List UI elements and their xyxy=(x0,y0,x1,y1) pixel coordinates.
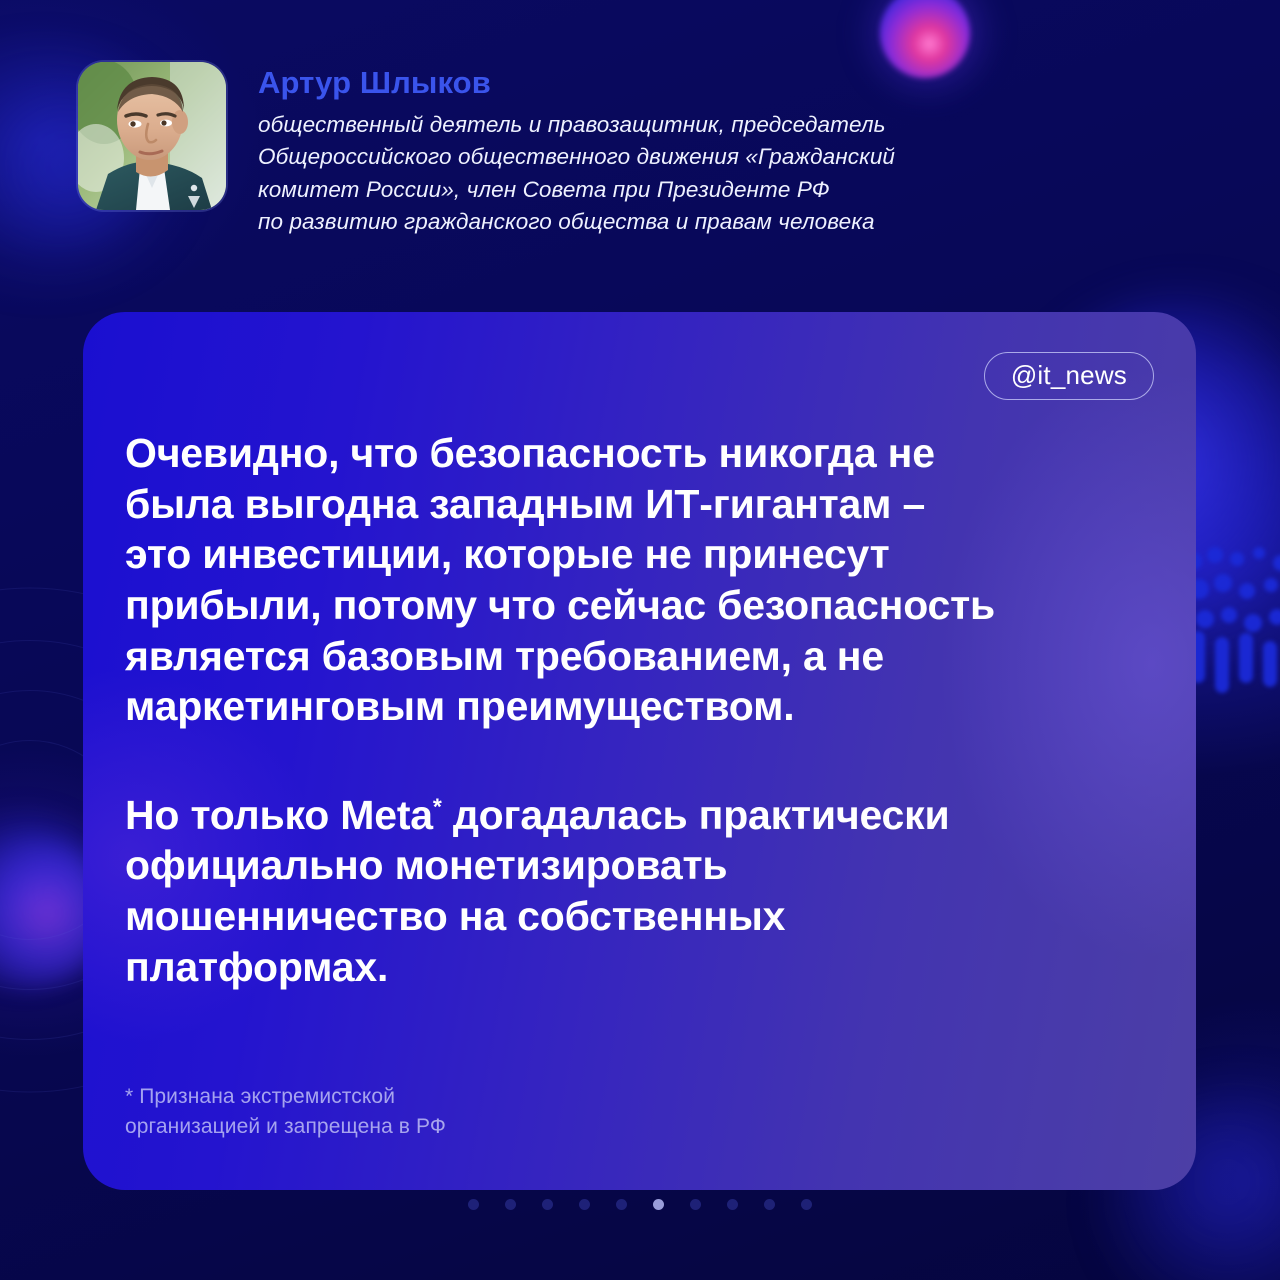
pagination-dot[interactable] xyxy=(579,1199,590,1210)
pagination-dot[interactable] xyxy=(727,1199,738,1210)
avatar xyxy=(78,62,226,210)
pagination-dot[interactable] xyxy=(542,1199,553,1210)
channel-handle-badge[interactable]: @it_news xyxy=(984,352,1154,400)
pagination-dots[interactable] xyxy=(0,1199,1280,1210)
footnote-text: * Признана экстремистской организацией и… xyxy=(125,1082,446,1142)
quote-paragraph-1: Очевидно, что безопасность никогда не бы… xyxy=(125,428,1152,732)
speaker-header: Артур Шлыков общественный деятель и прав… xyxy=(78,62,895,239)
pagination-dot[interactable] xyxy=(616,1199,627,1210)
avatar-photo xyxy=(78,62,226,210)
speaker-name: Артур Шлыков xyxy=(258,66,895,100)
footnote-marker: * xyxy=(433,793,442,819)
quote-p2-before: Но только Meta xyxy=(125,792,433,838)
pagination-dot[interactable] xyxy=(690,1199,701,1210)
pagination-dot[interactable] xyxy=(801,1199,812,1210)
pagination-dot[interactable] xyxy=(468,1199,479,1210)
quote-card-slide: Артур Шлыков общественный деятель и прав… xyxy=(0,0,1280,1280)
quote-paragraph-2: Но только Meta* догадалась практически о… xyxy=(125,790,1152,993)
pagination-dot[interactable] xyxy=(653,1199,664,1210)
quote-card: @it_news Очевидно, что безопасность нико… xyxy=(83,312,1196,1190)
speaker-role: общественный деятель и правозащитник, пр… xyxy=(258,109,895,239)
dotted-circuit-decoration xyxy=(1185,545,1280,745)
pagination-dot[interactable] xyxy=(505,1199,516,1210)
pagination-dot[interactable] xyxy=(764,1199,775,1210)
quote-body: Очевидно, что безопасность никогда не бы… xyxy=(125,428,1152,992)
